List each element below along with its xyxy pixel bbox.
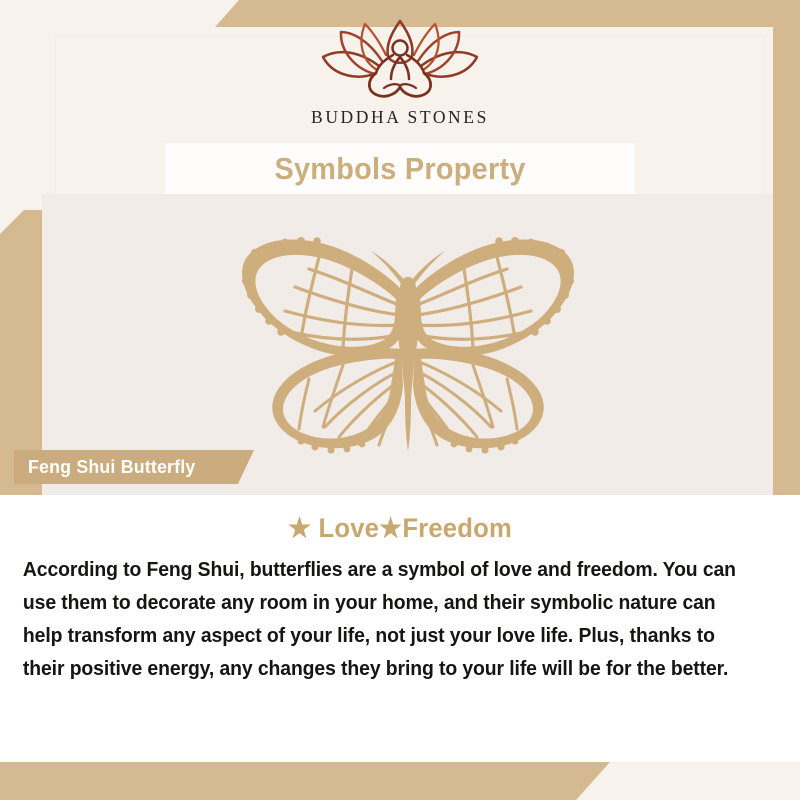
feng-shui-butterfly-ribbon: Feng Shui Butterfly: [14, 450, 254, 484]
brand-name: BUDDHA STONES: [311, 107, 489, 128]
poster-canvas: BUDDHA STONES Symbols Property: [0, 0, 800, 800]
page-title: Symbols Property: [274, 151, 525, 187]
ribbon-label: Feng Shui Butterfly: [28, 456, 195, 478]
content-panel: ★ Love★Freedom According to Feng Shui, b…: [0, 495, 800, 762]
butterfly-icon: [233, 225, 583, 465]
title-band: Symbols Property: [165, 143, 635, 194]
love-freedom-subheading: ★ Love★Freedom: [20, 495, 780, 544]
brand-header: BUDDHA STONES: [0, 0, 800, 143]
body-paragraph: According to Feng Shui, butterflies are …: [0, 544, 764, 686]
brand-logo: BUDDHA STONES: [311, 18, 489, 128]
hero-image-area: [42, 194, 773, 495]
frame-bar-bottom-decor: [0, 762, 610, 800]
lotus-meditation-figure-icon: [315, 18, 485, 104]
